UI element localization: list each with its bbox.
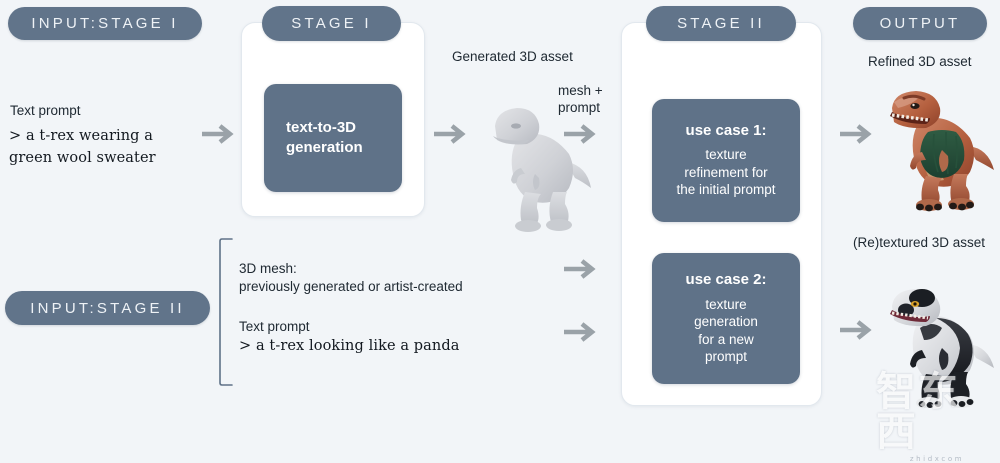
use-case-1-line-1: texture [705, 146, 746, 164]
stage-2-mesh-label: 3D mesh: [239, 260, 297, 278]
stage-1-text-to-3d-box: text-to-3D generation [264, 84, 402, 192]
use-case-1-line-2: refinement for [684, 164, 767, 182]
use-case-1-line-3: the initial prompt [676, 181, 775, 199]
arrow-right-icon-2 [432, 122, 472, 146]
stage-1-prompt-line-2: green wool sweater [9, 148, 156, 169]
badge-input-stage-2: INPUT:STAGE II [5, 291, 210, 325]
badge-stage-1: STAGE I [262, 6, 401, 41]
stage-1-box-line-2: generation [264, 138, 402, 158]
badge-output: OUTPUT [853, 7, 987, 40]
refined-asset-label: Refined 3D asset [868, 53, 972, 71]
watermark-glyphs: 智东西 [876, 372, 998, 452]
watermark-logo: 智东西 zhidxcom [876, 372, 998, 463]
stage-2-prompt-value: > a t-rex looking like a panda [239, 336, 460, 357]
arrow-right-icon-4 [838, 122, 878, 146]
stage-2-mesh-description: previously generated or artist-created [239, 278, 463, 296]
use-case-2-title: use case 2: [686, 271, 767, 288]
stage-1-prompt-label: Text prompt [10, 102, 81, 120]
textured-trex-sweater-icon [884, 84, 996, 212]
grey-3d-mesh-trex-icon [483, 96, 595, 236]
use-case-2-line-4: prompt [705, 348, 747, 366]
stage-2-use-case-2-box: use case 2: texture generation for a new… [652, 253, 800, 384]
badge-stage-2: STAGE II [646, 6, 796, 41]
retextured-asset-label: (Re)textured 3D asset [853, 234, 985, 252]
badge-input-stage-1: INPUT:STAGE I [8, 7, 202, 40]
arrow-right-icon-7 [838, 318, 878, 342]
generated-asset-label: Generated 3D asset [452, 48, 573, 66]
diagram-canvas: INPUT:STAGE I STAGE I STAGE II OUTPUT IN… [0, 0, 1000, 424]
use-case-1-title: use case 1: [686, 122, 767, 139]
use-case-2-line-1: texture [705, 296, 746, 314]
use-case-2-line-3: for a new [698, 331, 754, 349]
watermark-subtitle: zhidxcom [910, 455, 964, 463]
stage-2-use-case-1-box: use case 1: texture refinement for the i… [652, 99, 800, 222]
arrow-right-icon-6 [562, 320, 602, 344]
stage-1-box-line-1: text-to-3D [264, 118, 402, 138]
stage-2-prompt-label: Text prompt [239, 318, 310, 336]
arrow-right-icon-5 [562, 257, 602, 281]
stage-1-prompt-line-1: > a t-rex wearing a [9, 126, 153, 147]
input-stage-2-bracket [218, 238, 234, 386]
use-case-2-line-2: generation [694, 313, 758, 331]
arrow-right-icon-1 [200, 122, 240, 146]
